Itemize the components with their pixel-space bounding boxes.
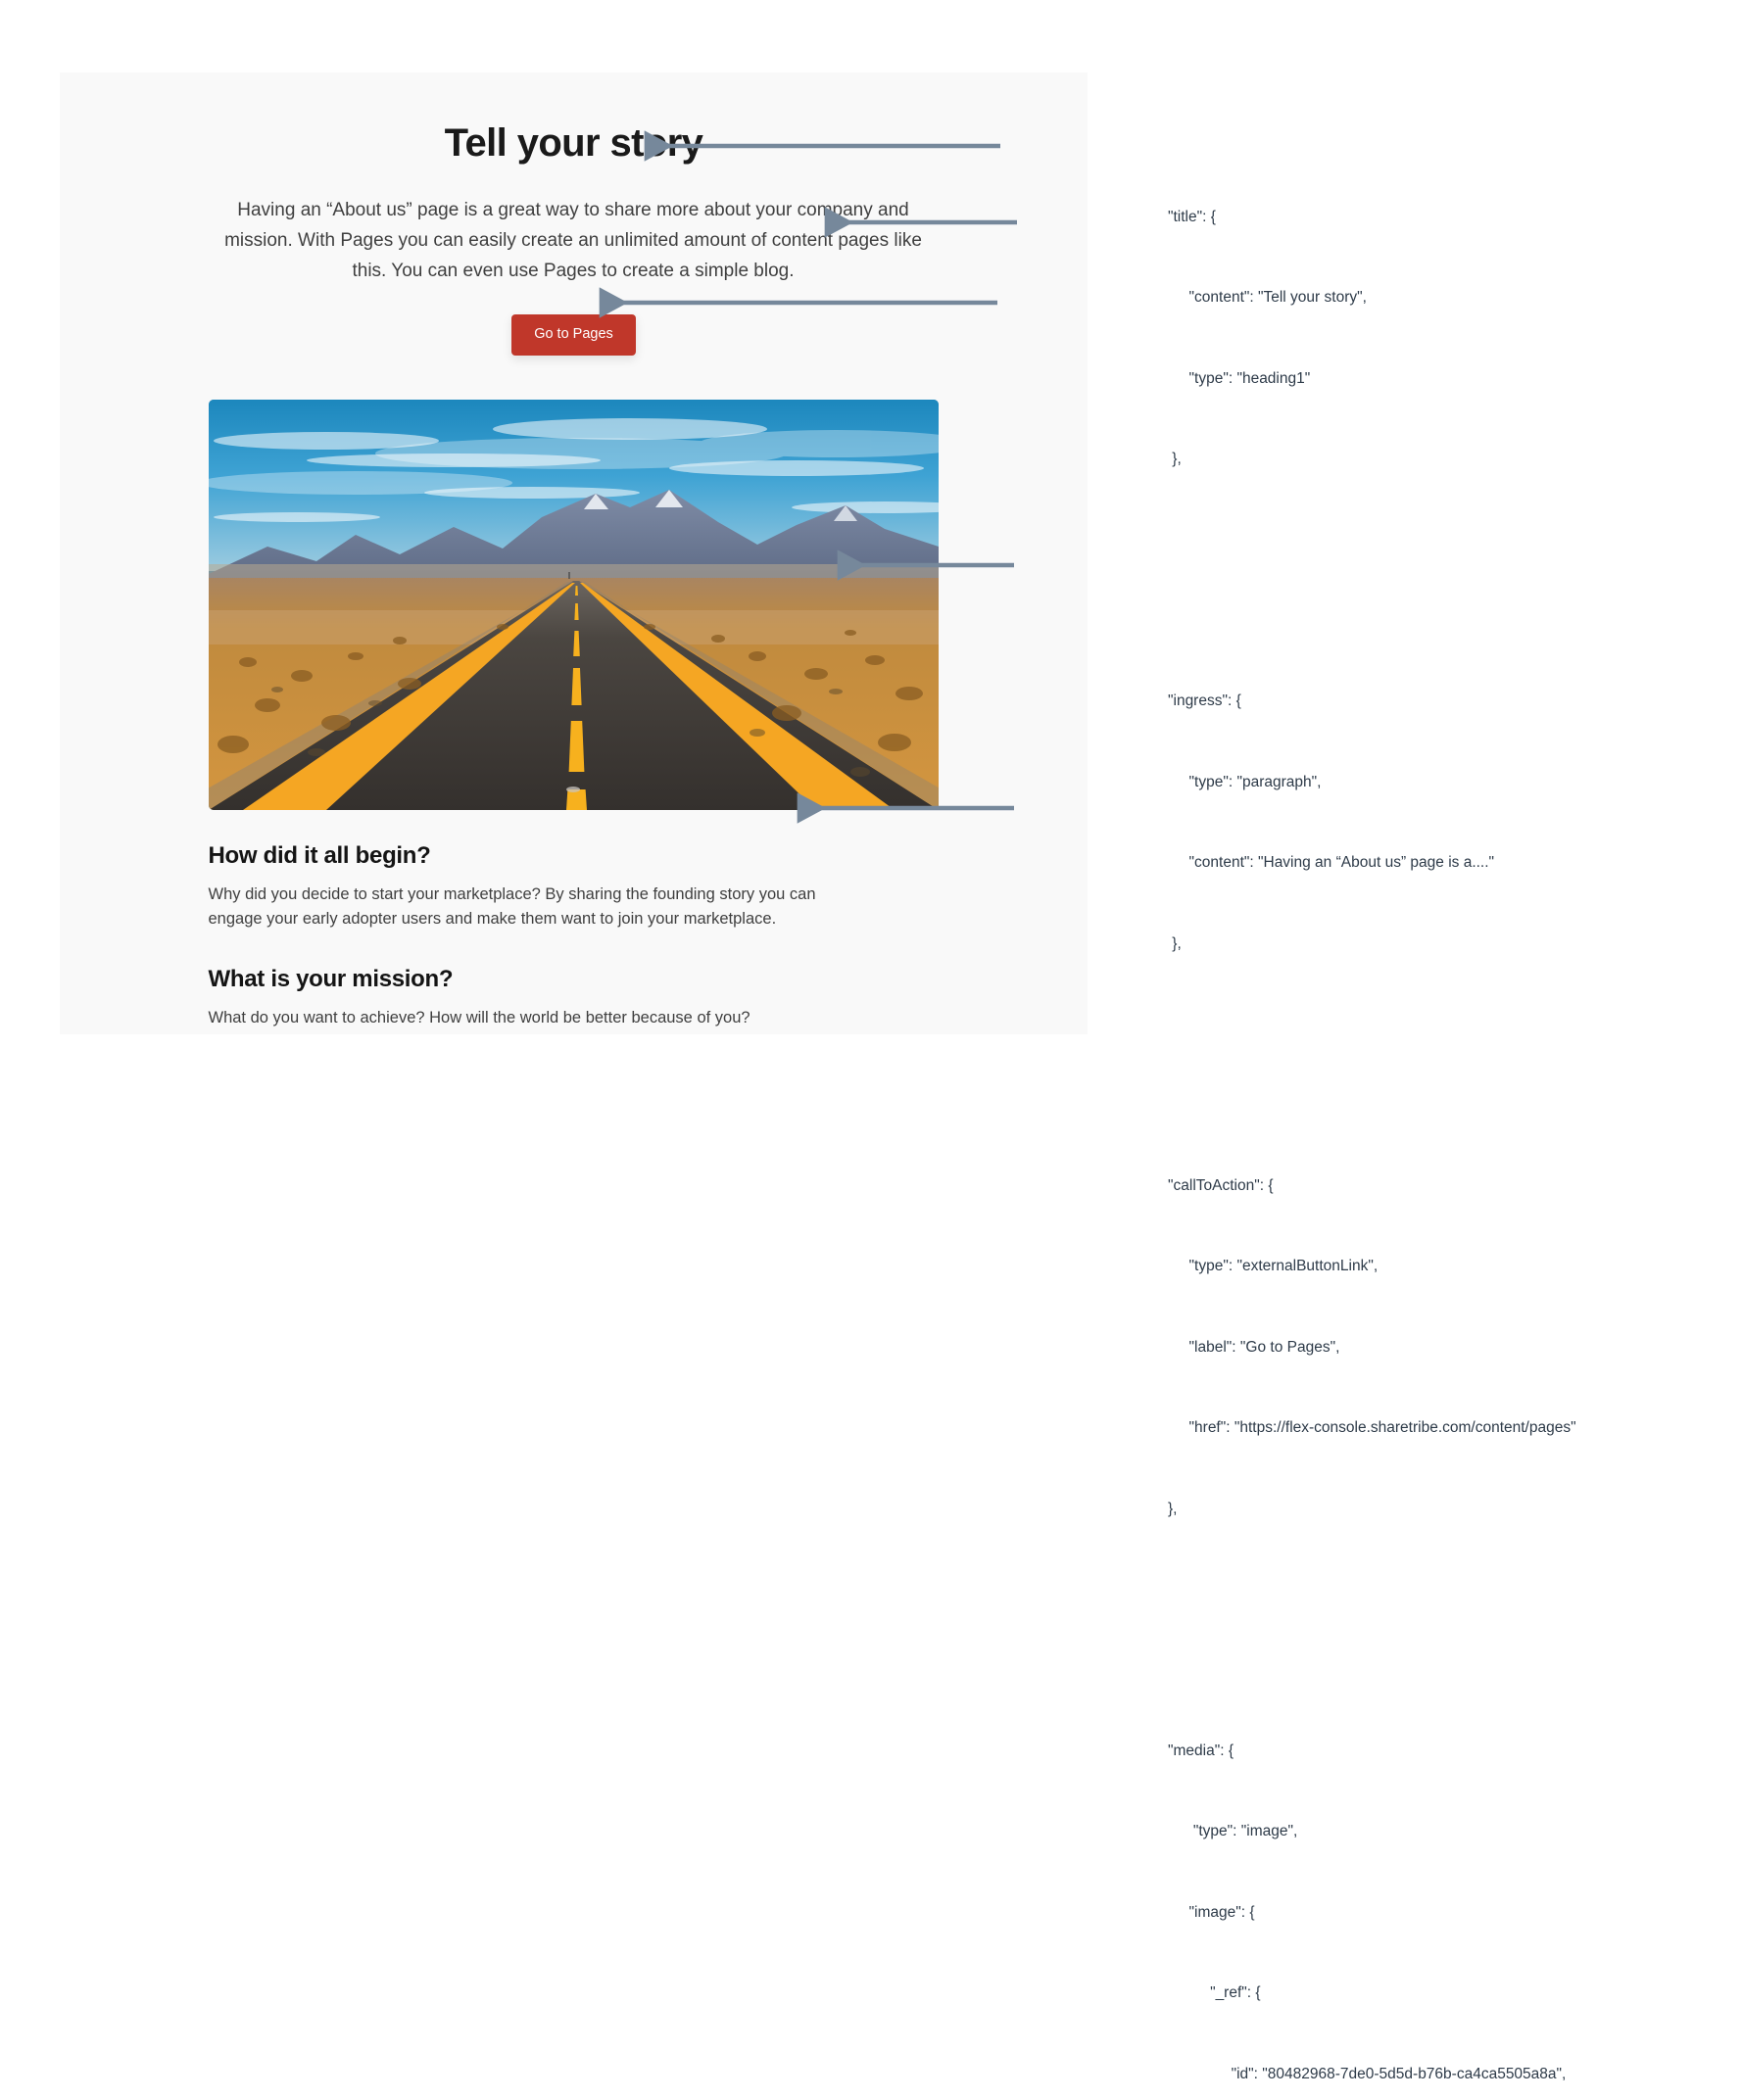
- cta-container: Go to Pages: [221, 314, 927, 356]
- json-line: "_ref": {: [1168, 1980, 1742, 2007]
- json-block-title: "title": { "content": "Tell your story",…: [1168, 150, 1742, 527]
- preview-content: Tell your story Having an “About us” pag…: [221, 72, 927, 1030]
- page-title: Tell your story: [221, 119, 927, 167]
- json-line: "media": {: [1168, 1738, 1742, 1765]
- page-ingress-paragraph: Having an “About us” page is a great way…: [209, 196, 939, 286]
- go-to-pages-button[interactable]: Go to Pages: [511, 314, 636, 356]
- json-line: "ingress": {: [1168, 688, 1742, 715]
- json-block-call-to-action: "callToAction": { "type": "externalButto…: [1168, 1119, 1742, 1577]
- json-line: "href": "https://flex-console.sharetribe…: [1168, 1414, 1742, 1442]
- json-line: "type": "image",: [1168, 1818, 1742, 1845]
- json-line: "content": "Having an “About us” page is…: [1168, 849, 1742, 877]
- json-line: },: [1168, 931, 1742, 958]
- json-line: "callToAction": {: [1168, 1172, 1742, 1200]
- json-line: "id": "80482968-7de0-5d5d-b76b-ca4ca5505…: [1168, 2061, 1742, 2088]
- page-preview-panel: Tell your story Having an “About us” pag…: [60, 72, 1088, 1034]
- json-source-column: "title": { "content": "Tell your story",…: [1168, 69, 1742, 2100]
- section-body-1: Why did you decide to start your marketp…: [209, 883, 855, 932]
- json-line: "type": "heading1": [1168, 365, 1742, 393]
- json-block-media: "media": { "type": "image", "image": { "…: [1168, 1684, 1742, 2100]
- json-line: },: [1168, 1496, 1742, 1523]
- json-line: "type": "paragraph",: [1168, 769, 1742, 796]
- json-line: },: [1168, 446, 1742, 473]
- road-illustration: [209, 400, 939, 810]
- json-line: "content": "Tell your story",: [1168, 284, 1742, 311]
- json-block-ingress: "ingress": { "type": "paragraph", "conte…: [1168, 634, 1742, 1011]
- hero-image-road: [209, 400, 939, 810]
- markdown-body: How did it all begin? Why did you decide…: [209, 842, 939, 1031]
- json-line: "label": "Go to Pages",: [1168, 1334, 1742, 1361]
- json-line: "title": {: [1168, 204, 1742, 231]
- section-heading-2: What is your mission?: [209, 966, 939, 993]
- json-line: "image": {: [1168, 1899, 1742, 1927]
- json-line: "type": "externalButtonLink",: [1168, 1253, 1742, 1280]
- section-body-2: What do you want to achieve? How will th…: [209, 1006, 855, 1031]
- section-heading-1: How did it all begin?: [209, 842, 939, 870]
